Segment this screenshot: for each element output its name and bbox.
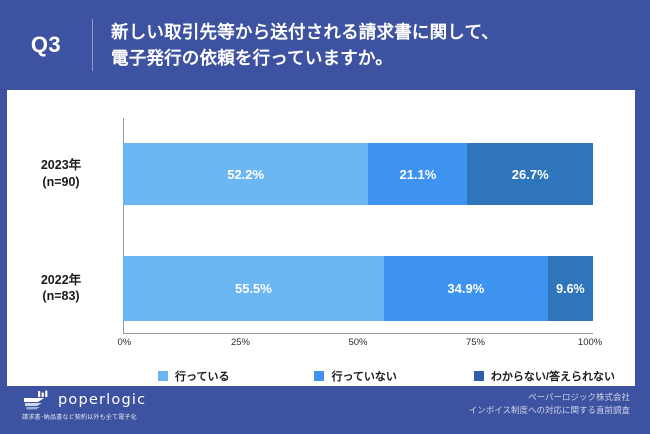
bar-2022: 55.5% 34.9% 9.6%	[123, 256, 593, 321]
legend-item-no[interactable]: 行っていない	[314, 368, 396, 384]
header-divider	[92, 19, 93, 71]
row-label-2023-n: (n=90)	[7, 174, 115, 191]
x-tick-75: 75%	[466, 337, 485, 348]
bar-value-2022-unknown: 9.6%	[556, 282, 585, 296]
credit-survey: インボイス制度への対応に関する直前調査	[469, 404, 630, 417]
page-title: 新しい取引先等から送付される請求書に関して、 電子発行の依頼を行っていますか。	[111, 19, 499, 72]
row-label-2023-year: 2023年	[41, 158, 81, 172]
brand-block: poperlogic 請求書･納品書など契約以外も全て電子化	[22, 390, 252, 421]
bar-segment-2022-unknown[interactable]: 9.6%	[548, 256, 593, 321]
x-tick-50: 50%	[348, 337, 367, 348]
page-title-line-2: 電子発行の依頼を行っていますか。	[111, 45, 499, 71]
slide-header: Q3 新しい取引先等から送付される請求書に関して、 電子発行の依頼を行っています…	[0, 0, 650, 90]
row-label-2023: 2023年 (n=90)	[7, 157, 115, 191]
credit-block: ペーパーロジック株式会社 インボイス制度への対応に関する直前調査	[469, 391, 630, 417]
slide-root: Q3 新しい取引先等から送付される請求書に関して、 電子発行の依頼を行っています…	[0, 0, 650, 434]
credit-company: ペーパーロジック株式会社	[469, 391, 630, 404]
legend-label-unknown: わからない/答えられない	[491, 368, 615, 384]
brand-row: poperlogic	[22, 390, 252, 410]
row-label-2022-n: (n=83)	[7, 289, 115, 306]
poperlogic-logo-icon	[22, 390, 52, 410]
legend-item-yes[interactable]: 行っている	[158, 368, 229, 384]
chart-row-2023: 2023年 (n=90) 52.2% 21.1% 26.7%	[7, 143, 635, 205]
bar-segment-2023-unknown[interactable]: 26.7%	[467, 143, 592, 205]
stacked-bar-chart: 2023年 (n=90) 52.2% 21.1% 26.7%	[7, 90, 635, 386]
bar-value-2022-yes: 55.5%	[235, 281, 272, 296]
bar-segment-2023-no[interactable]: 21.1%	[368, 143, 467, 205]
chart-row-2022: 2022年 (n=83) 55.5% 34.9% 9.6%	[7, 256, 635, 321]
bar-segment-2023-yes[interactable]: 52.2%	[123, 143, 368, 205]
bar-value-2023-unknown: 26.7%	[512, 167, 549, 182]
legend-label-no: 行っていない	[331, 368, 396, 384]
bar-value-2023-yes: 52.2%	[227, 167, 264, 182]
legend-swatch-icon-no	[314, 371, 324, 381]
x-tick-25: 25%	[231, 337, 250, 348]
legend-label-yes: 行っている	[175, 368, 229, 384]
bar-value-2023-no: 21.1%	[399, 167, 436, 182]
x-tick-0: 0%	[118, 337, 132, 348]
slide-footer: poperlogic 請求書･納品書など契約以外も全て電子化 ペーパーロジック株…	[0, 386, 650, 434]
chart-x-axis	[123, 333, 593, 334]
bar-segment-2022-yes[interactable]: 55.5%	[123, 256, 384, 321]
legend-swatch-icon-unknown	[474, 371, 484, 381]
question-number: Q3	[0, 32, 92, 58]
chart-legend: 行っている 行っていない わからない/答えられない	[7, 366, 635, 386]
legend-swatch-icon-yes	[158, 371, 168, 381]
bar-2023: 52.2% 21.1% 26.7%	[123, 143, 593, 205]
brand-name: poperlogic	[58, 392, 146, 408]
chart-card: 2023年 (n=90) 52.2% 21.1% 26.7%	[7, 90, 635, 386]
row-label-2022: 2022年 (n=83)	[7, 272, 115, 306]
page-title-line-1: 新しい取引先等から送付される請求書に関して、	[111, 19, 499, 45]
brand-tagline: 請求書･納品書など契約以外も全て電子化	[22, 412, 252, 421]
x-tick-100: 100%	[578, 337, 602, 348]
chart-x-tick-labels: 0% 25% 50% 75% 100%	[7, 337, 635, 353]
bar-segment-2022-no[interactable]: 34.9%	[384, 256, 548, 321]
legend-item-unknown[interactable]: わからない/答えられない	[474, 368, 615, 384]
bar-value-2022-no: 34.9%	[447, 281, 484, 296]
row-label-2022-year: 2022年	[41, 273, 81, 287]
